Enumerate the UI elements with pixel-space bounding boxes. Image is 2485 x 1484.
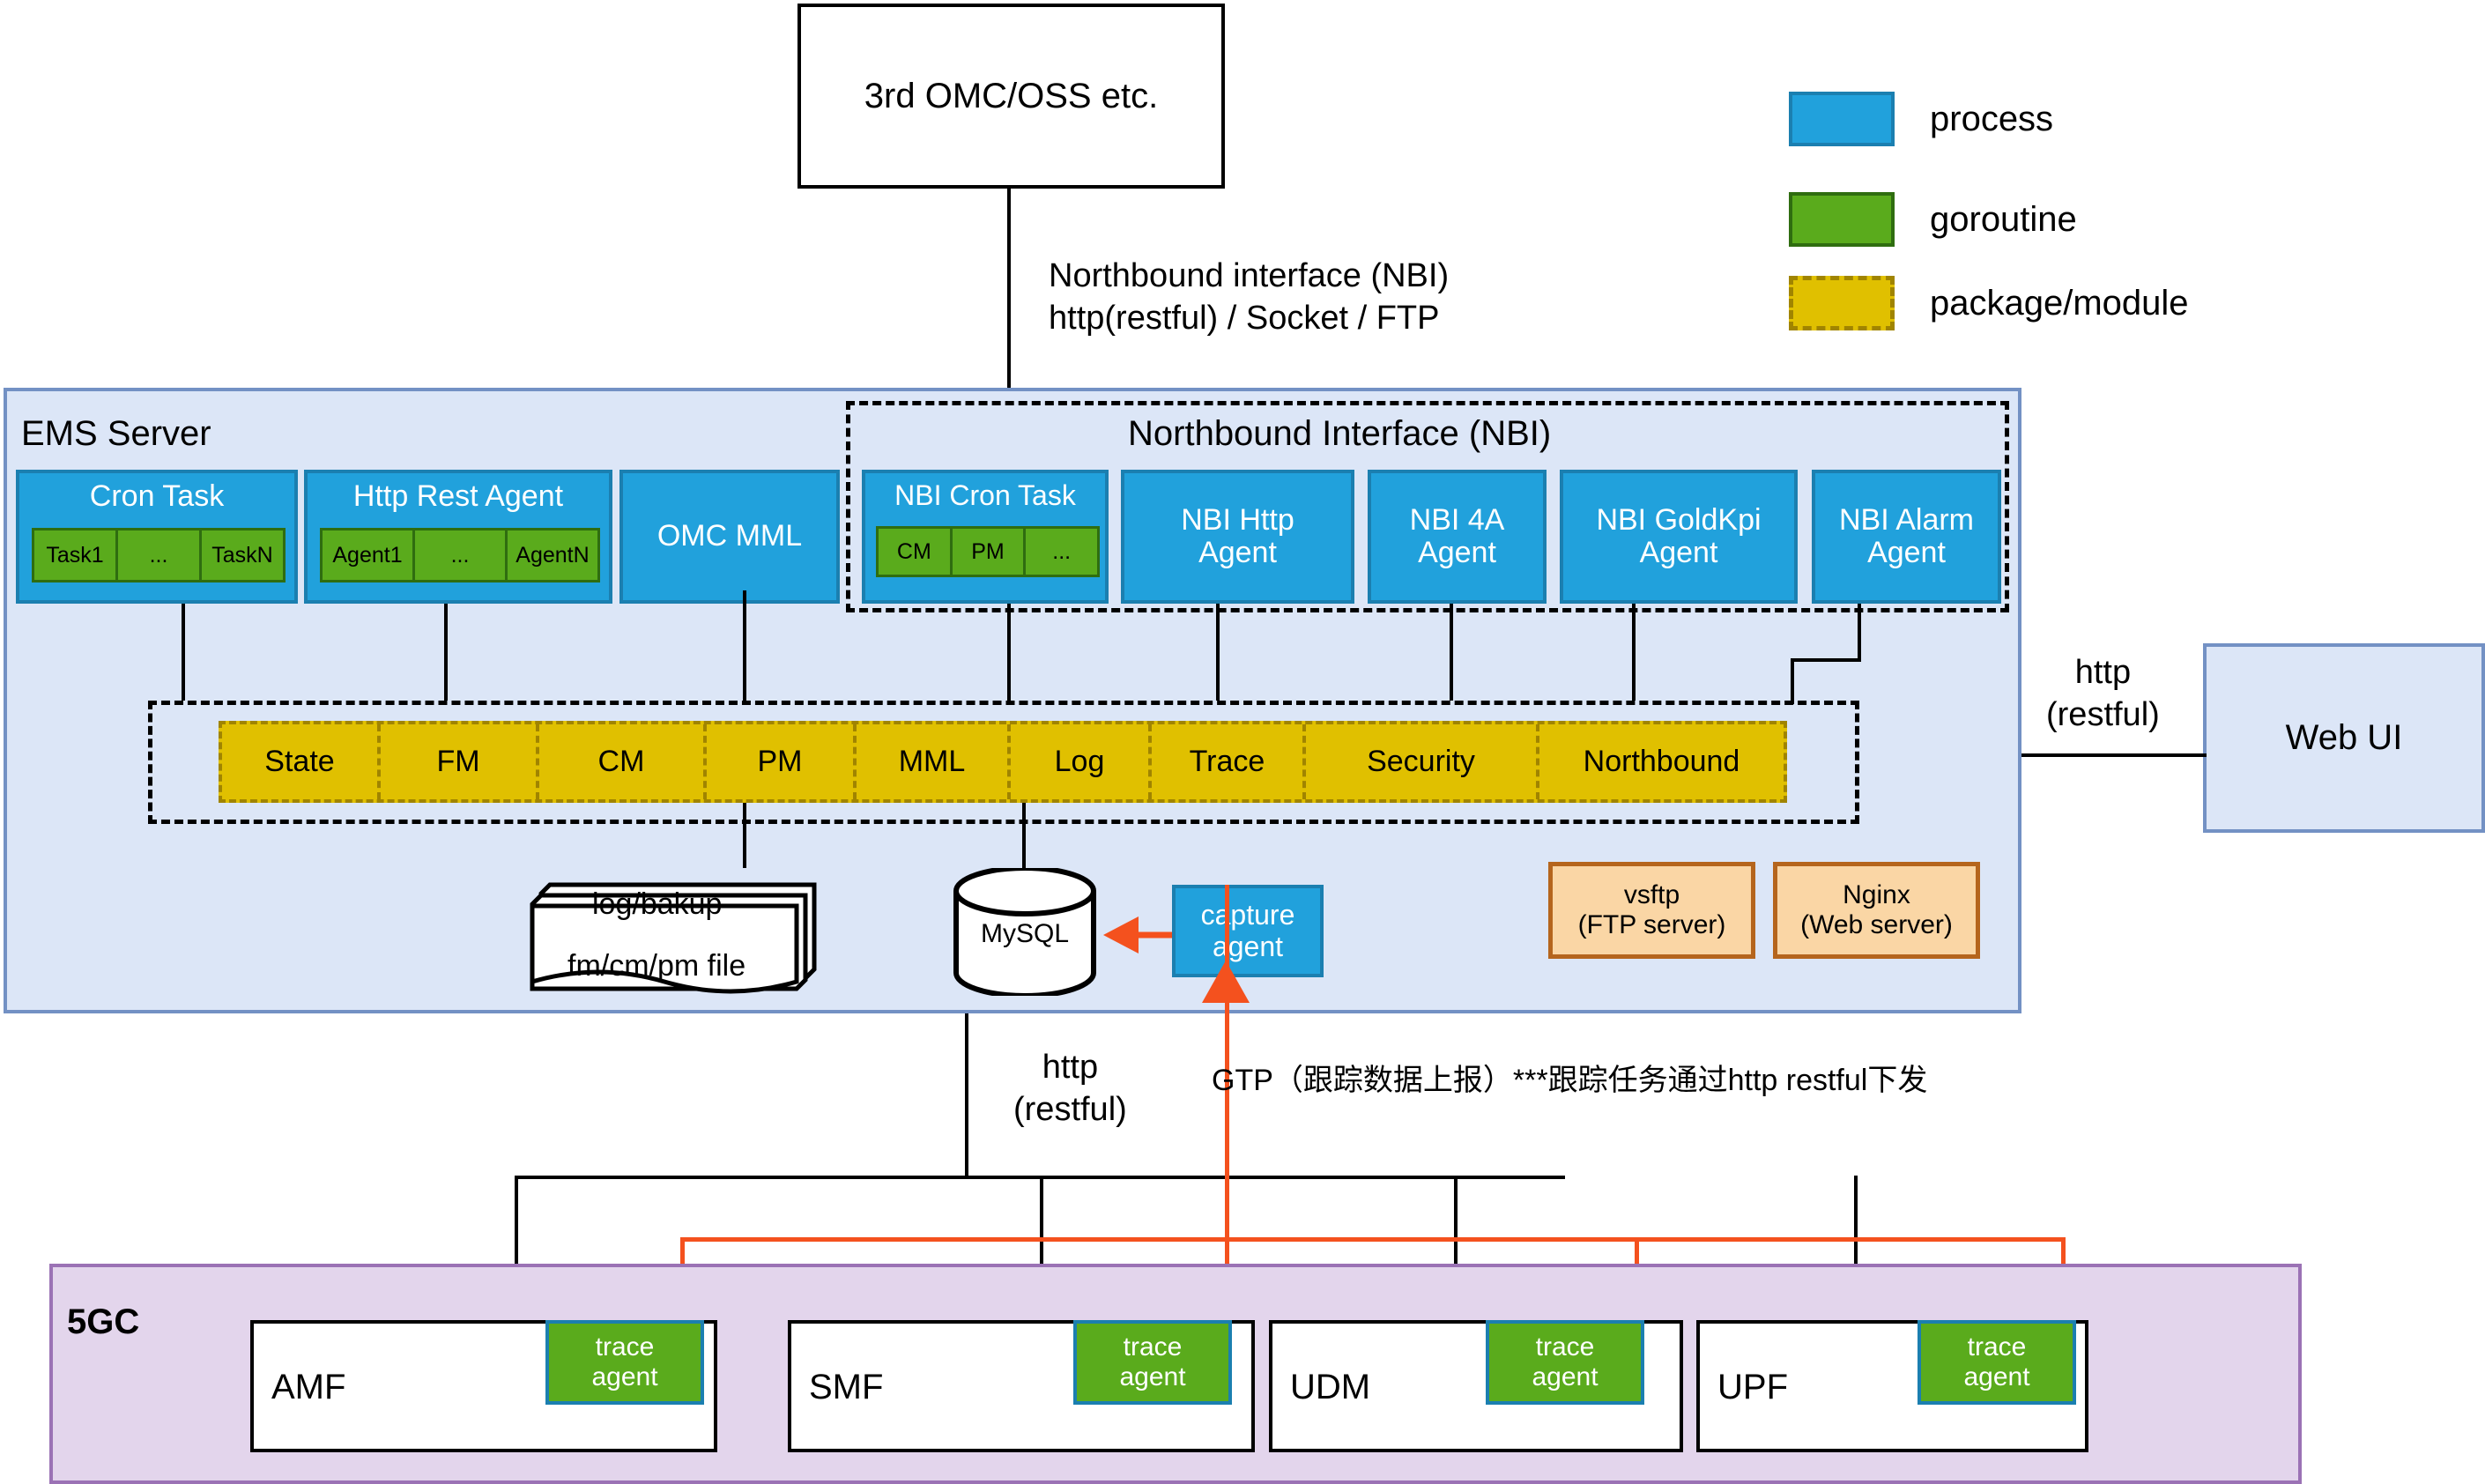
module-pm[interactable]: PM bbox=[707, 724, 857, 799]
goroutine-item[interactable]: ... bbox=[415, 531, 508, 580]
module-bar: State FM CM PM MML Log Trace Security No… bbox=[219, 721, 1787, 803]
connector-nbi-alarm-agent-seg3 bbox=[1791, 658, 1794, 704]
connector-oss-to-ems bbox=[1007, 189, 1011, 396]
http-restful-label: http (restful) bbox=[1013, 1047, 1127, 1131]
ftp-server-label: vsftp(FTP server) bbox=[1578, 880, 1726, 939]
arrow-gtp-to-capture-icon bbox=[1200, 961, 1253, 1013]
process-cron-task[interactable]: Cron Task Task1 ... TaskN bbox=[16, 470, 298, 604]
connector-cron-task bbox=[182, 604, 185, 701]
web-ui-box[interactable]: Web UI bbox=[2203, 643, 2485, 833]
connector-http-rest-agent bbox=[444, 604, 448, 701]
web-ui-label: Web UI bbox=[2286, 718, 2403, 758]
process-nbi-http-agent[interactable]: NBI Http Agent bbox=[1121, 470, 1354, 604]
nf-label-smf: SMF bbox=[809, 1368, 883, 1407]
web-server-box[interactable]: Nginx(Web server) bbox=[1773, 862, 1980, 959]
trace-agent-udm-label: trace agent bbox=[1532, 1332, 1598, 1391]
goroutine-item[interactable]: PM bbox=[953, 529, 1027, 575]
module-mml[interactable]: MML bbox=[857, 724, 1011, 799]
module-log[interactable]: Log bbox=[1011, 724, 1152, 799]
goroutine-item[interactable]: ... bbox=[1026, 529, 1097, 575]
module-security[interactable]: Security bbox=[1306, 724, 1539, 799]
nbi-link-label: Northbound interface (NBI) http(restful)… bbox=[1049, 256, 1449, 339]
connector-nbi-alarm-agent-seg2 bbox=[1791, 658, 1861, 662]
module-cm[interactable]: CM bbox=[539, 724, 707, 799]
module-trace[interactable]: Trace bbox=[1152, 724, 1306, 799]
goroutine-row-nbi-cron-task: CM PM ... bbox=[876, 526, 1100, 577]
process-nbi-goldkpi-agent[interactable]: NBI GoldKpi Agent bbox=[1560, 470, 1798, 604]
process-nbi-4a-agent-label: NBI 4A Agent bbox=[1371, 504, 1543, 570]
process-omc-mml[interactable]: OMC MML bbox=[619, 470, 840, 604]
goroutine-item[interactable]: Task1 bbox=[34, 531, 118, 580]
process-nbi-cron-task[interactable]: NBI Cron Task CM PM ... bbox=[862, 470, 1109, 604]
connector-nbi-4a-agent bbox=[1450, 604, 1453, 701]
module-state[interactable]: State bbox=[222, 724, 381, 799]
module-northbound[interactable]: Northbound bbox=[1539, 724, 1784, 799]
legend-swatch-package-module bbox=[1789, 276, 1895, 330]
process-http-rest-agent-label: Http Rest Agent bbox=[308, 480, 609, 513]
goroutine-item[interactable]: AgentN bbox=[508, 531, 597, 580]
architecture-diagram: 3rd OMC/OSS etc. Northbound interface (N… bbox=[0, 0, 2485, 1484]
legend-label-package-module: package/module bbox=[1930, 276, 2189, 330]
external-system-box: 3rd OMC/OSS etc. bbox=[797, 4, 1225, 189]
goroutine-row-cron-task: Task1 ... TaskN bbox=[32, 528, 286, 582]
process-omc-mml-label: OMC MML bbox=[623, 520, 836, 553]
process-nbi-alarm-agent[interactable]: NBI Alarm Agent bbox=[1812, 470, 2001, 604]
process-http-rest-agent[interactable]: Http Rest Agent Agent1 ... AgentN bbox=[304, 470, 612, 604]
process-nbi-alarm-agent-label: NBI Alarm Agent bbox=[1815, 504, 1998, 570]
trace-agent-upf-label: trace agent bbox=[1963, 1332, 2029, 1391]
process-cron-task-label: Cron Task bbox=[19, 480, 294, 513]
ftp-server-box[interactable]: vsftp(FTP server) bbox=[1548, 862, 1755, 959]
trace-agent-smf[interactable]: trace agent bbox=[1073, 1320, 1232, 1405]
process-nbi-cron-task-label: NBI Cron Task bbox=[865, 480, 1105, 511]
nf-label-udm: UDM bbox=[1290, 1368, 1370, 1407]
legend-swatch-goroutine bbox=[1789, 192, 1895, 247]
trace-agent-amf-label: trace agent bbox=[591, 1332, 657, 1391]
trace-agent-udm[interactable]: trace agent bbox=[1486, 1320, 1644, 1405]
connector-ems-to-bus bbox=[965, 1013, 968, 1179]
goroutine-item[interactable]: CM bbox=[879, 529, 953, 575]
goroutine-row-http-rest-agent: Agent1 ... AgentN bbox=[320, 528, 600, 582]
nf-label-upf: UPF bbox=[1717, 1368, 1788, 1407]
connector-omc-mml bbox=[743, 590, 746, 701]
file-stack-label-line2: fm/cm/pm file bbox=[567, 947, 745, 985]
goroutine-item[interactable]: TaskN bbox=[202, 531, 283, 580]
legend-label-process: process bbox=[1930, 92, 2053, 146]
core-network-title: 5GC bbox=[67, 1302, 139, 1342]
connector-nbi-alarm-agent-seg1 bbox=[1858, 604, 1861, 662]
trace-agent-upf[interactable]: trace agent bbox=[1918, 1320, 2076, 1405]
ems-server-title: EMS Server bbox=[21, 414, 211, 454]
web-ui-link-label: http (restful) bbox=[2046, 652, 2160, 736]
goroutine-item[interactable]: ... bbox=[118, 531, 202, 580]
connector-module-to-mysql bbox=[1022, 803, 1026, 868]
goroutine-item[interactable]: Agent1 bbox=[323, 531, 415, 580]
process-nbi-http-agent-label: NBI Http Agent bbox=[1124, 504, 1351, 570]
capture-agent-label: capture agent bbox=[1176, 900, 1320, 961]
legend-label-goroutine: goroutine bbox=[1930, 192, 2077, 247]
gtp-note-label: GTP（跟踪数据上报）***跟踪任务通过http restful下发 bbox=[1212, 1062, 1927, 1100]
process-nbi-goldkpi-agent-label: NBI GoldKpi Agent bbox=[1563, 504, 1794, 570]
file-stack-label-line1: log/bakup bbox=[592, 886, 722, 924]
nf-label-amf: AMF bbox=[271, 1368, 345, 1407]
web-server-label: Nginx(Web server) bbox=[1800, 880, 1953, 939]
nbi-group-title: Northbound Interface (NBI) bbox=[1128, 414, 1551, 454]
module-fm[interactable]: FM bbox=[381, 724, 539, 799]
connector-nbi-goldkpi-agent bbox=[1632, 604, 1636, 701]
process-nbi-4a-agent[interactable]: NBI 4A Agent bbox=[1368, 470, 1547, 604]
connector-nbi-cron-task bbox=[1007, 604, 1011, 701]
connector-log-to-files bbox=[743, 803, 746, 868]
gtp-bus-horizontal bbox=[680, 1237, 2066, 1242]
trace-agent-smf-label: trace agent bbox=[1119, 1332, 1185, 1391]
trace-agent-amf[interactable]: trace agent bbox=[545, 1320, 704, 1405]
legend-swatch-process bbox=[1789, 92, 1895, 146]
external-system-label: 3rd OMC/OSS etc. bbox=[864, 77, 1158, 116]
mysql-label: MySQL bbox=[950, 916, 1100, 952]
connector-nbi-http-agent bbox=[1216, 604, 1220, 701]
connector-ems-to-web-ui bbox=[2021, 753, 2207, 757]
